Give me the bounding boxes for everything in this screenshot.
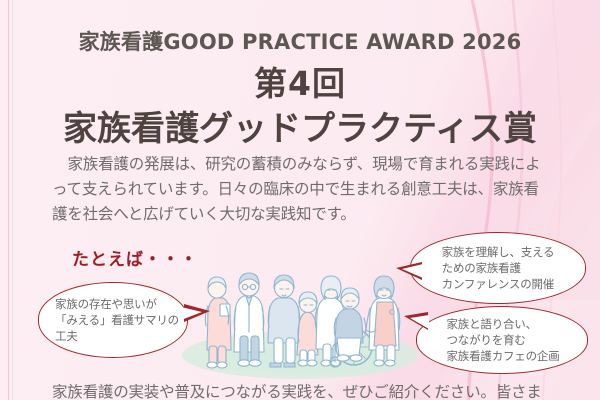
example-label: たとえば・・・ — [72, 245, 198, 270]
speech-bubble-tail-inner — [410, 315, 429, 329]
figure-elderly-woman — [297, 292, 318, 366]
figure-doctor — [234, 273, 264, 366]
speech-bubble-tail-inner — [402, 264, 423, 278]
speech-bubble-cafe[interactable]: 家族と語り合い、 つながりを育む 家族看護カフェの企画 — [398, 306, 594, 374]
lead-paragraph: 家族看護の発展は、研究の蓄積のみならず、現場で育まれる実践によって支えられていま… — [52, 152, 552, 227]
speech-bubble-text: 家族を理解し、支える ための家族看護 カンファレンスの開催 — [442, 244, 555, 293]
page-title-main: 家族看護グッドプラクティス賞 — [0, 101, 600, 150]
speech-bubble-conference[interactable]: 家族を理解し、支える ための家族看護 カンファレンスの開催 — [392, 232, 588, 304]
speech-bubble-nursing-summary[interactable]: 家族の存在や思いが 「みえる」看護サマリの 工夫 — [38, 282, 210, 358]
lead-paragraph-block: 家族看護の発展は、研究の蓄積のみならず、現場で育まれる実践によって支えられていま… — [52, 152, 552, 227]
speech-bubble-body: 家族を理解し、支える ための家族看護 カンファレンスの開催 — [410, 232, 586, 304]
speech-bubble-tail-inner — [181, 307, 202, 320]
speech-bubble-text: 家族と語り合い、 つながりを育む 家族看護カフェの企画 — [447, 316, 560, 365]
speech-bubble-text: 家族の存在や思いが 「みえる」看護サマリの 工夫 — [55, 296, 179, 345]
family-nursing-illustration: .ln{fill:none;stroke:#8fb6cf;stroke-widt… — [196, 246, 410, 374]
speech-bubble-body: 家族と語り合い、 つながりを育む 家族看護カフェの企画 — [416, 306, 588, 374]
speech-bubble-body: 家族の存在や思いが 「みえる」看護サマリの 工夫 — [38, 282, 188, 358]
closing-paragraph: 家族看護の実装や普及につながる実践を、ぜひご紹介ください。皆さま — [52, 380, 572, 400]
poster-root: 家族看護GOOD PRACTICE AWARD 2026 第4回 家族看護グッド… — [0, 0, 600, 400]
award-eyebrow: 家族看護GOOD PRACTICE AWARD 2026 — [0, 26, 600, 56]
page-title-edition: 第4回 — [0, 57, 600, 105]
